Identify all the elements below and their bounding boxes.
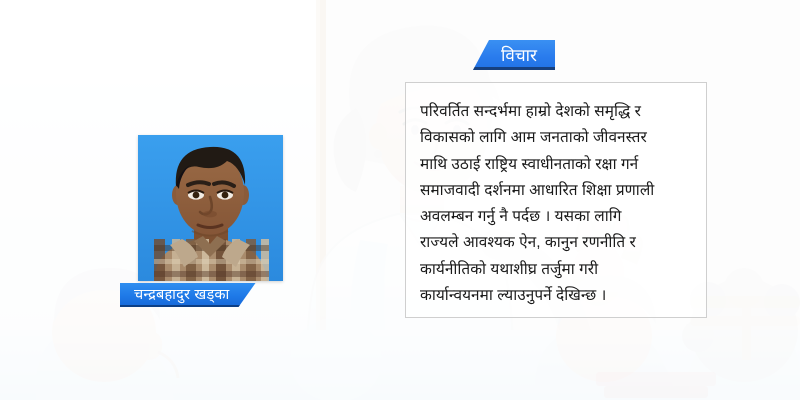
section-badge-label: विचार — [501, 47, 537, 64]
quote-box: परिवर्तित सन्दर्भमा हाम्रो देशको समृद्धि… — [405, 82, 707, 318]
quote-text: परिवर्तित सन्दर्भमा हाम्रो देशको समृद्धि… — [420, 99, 692, 309]
author-name-badge: चन्द्रबहादुर खड्का — [120, 283, 256, 307]
section-badge-slab: विचार — [473, 40, 555, 70]
section-badge: विचार — [473, 40, 555, 70]
author-name-slab: चन्द्रबहादुर खड्का — [120, 283, 256, 307]
author-photo — [138, 135, 283, 281]
author-name-label: चन्द्रबहादुर खड्का — [134, 288, 230, 303]
quote-card: विचार परिवर्तित सन्दर्भमा हाम्रो देशको स… — [0, 0, 800, 400]
